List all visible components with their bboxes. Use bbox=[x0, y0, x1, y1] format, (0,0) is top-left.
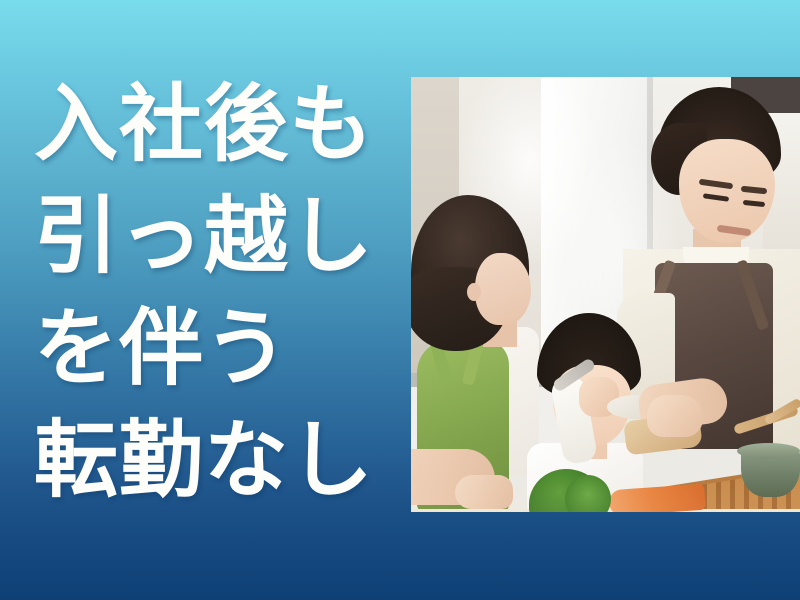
headline-block: 入社後も 引っ越し を伴う 転勤なし bbox=[34, 68, 404, 516]
recruitment-banner: 入社後も 引っ越し を伴う 転勤なし bbox=[0, 0, 800, 600]
father-hand bbox=[647, 395, 703, 437]
green-bowl-rim bbox=[737, 443, 800, 459]
headline-line-3: を伴う bbox=[34, 292, 404, 404]
family-cooking-photo bbox=[411, 77, 800, 512]
headline-line-2: 引っ越し bbox=[34, 180, 404, 292]
mother-face bbox=[475, 253, 531, 325]
mother-ear bbox=[467, 283, 481, 301]
headline-line-1: 入社後も bbox=[34, 68, 404, 180]
headline-line-4: 転勤なし bbox=[34, 404, 404, 516]
warm-light-overlay bbox=[411, 477, 800, 512]
